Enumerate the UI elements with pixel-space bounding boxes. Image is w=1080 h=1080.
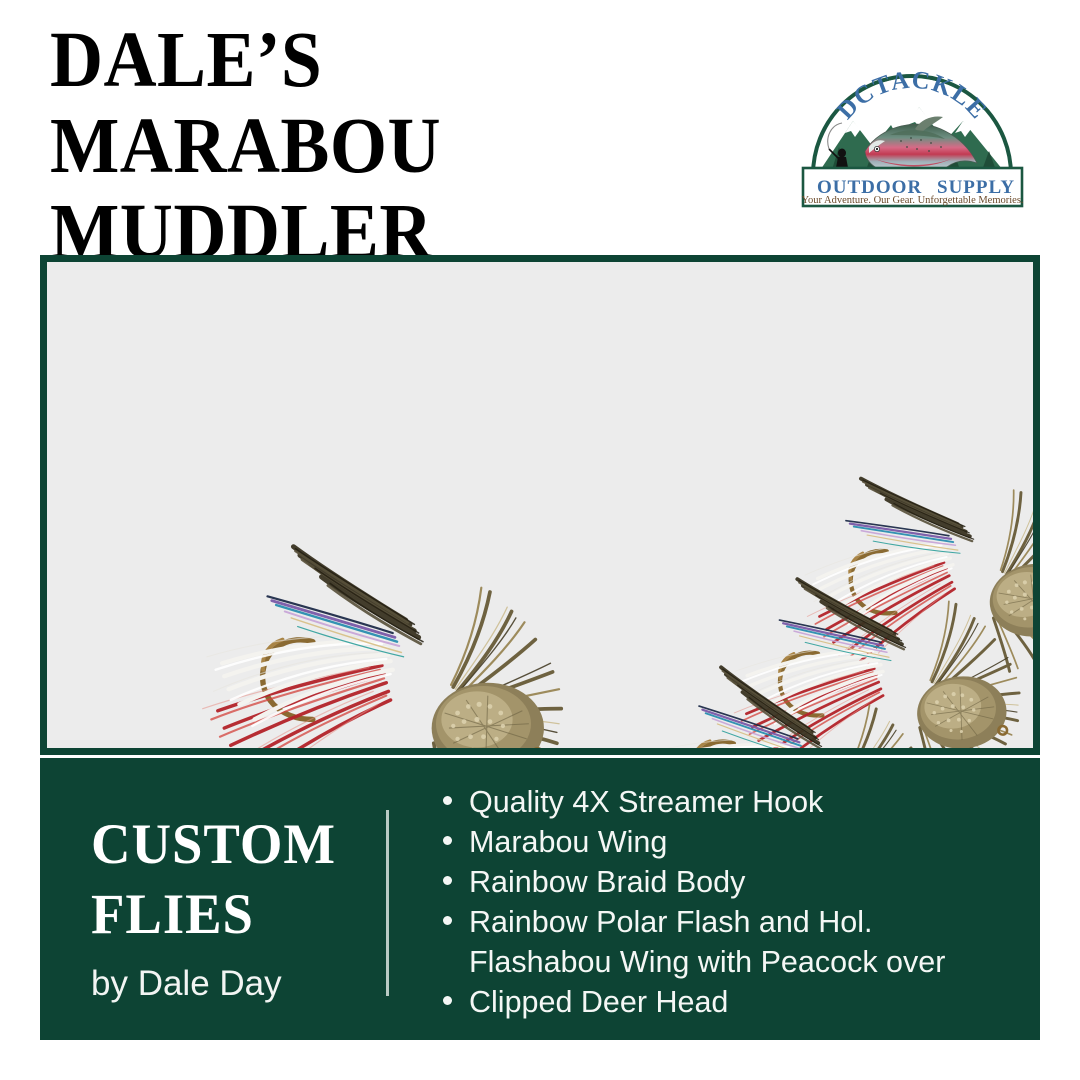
list-item-label: Rainbow Polar Flash and Hol. Flashabou W… <box>469 905 945 979</box>
list-item-label: Rainbow Braid Body <box>469 865 745 899</box>
bullet-dot-icon <box>443 916 452 925</box>
vertical-divider <box>386 810 389 996</box>
list-item: Rainbow Braid Body <box>438 862 1018 902</box>
list-item: Quality 4X Streamer Hook <box>438 782 1018 822</box>
list-item: Clipped Deer Head <box>438 982 1018 1022</box>
bullet-dot-icon <box>443 996 452 1005</box>
list-item-label: Clipped Deer Head <box>469 985 728 1019</box>
product-card: DALE’S MARABOU MUDDLER <box>0 0 1080 1080</box>
feature-list: Quality 4X Streamer Hook Marabou Wing Ra… <box>438 782 1018 1022</box>
list-item-label: Quality 4X Streamer Hook <box>469 785 823 819</box>
logo-tagline: Your Adventure. Our Gear. Unforgettable … <box>801 195 1023 206</box>
list-item: Rainbow Polar Flash and Hol. Flashabou W… <box>438 902 1018 982</box>
brand-logo[interactable]: DCTACKLE <box>795 55 1030 210</box>
product-photo <box>40 255 1040 755</box>
heading-line-1: CUSTOM <box>91 810 379 880</box>
page-title: DALE’S MARABOU MUDDLER <box>50 18 701 276</box>
heading-line-2: FLIES <box>91 880 379 950</box>
panel-heading-block: CUSTOM FLIES by Dale Day <box>91 810 391 1004</box>
bullet-dot-icon <box>443 876 452 885</box>
bullet-dot-icon <box>443 796 452 805</box>
header: DALE’S MARABOU MUDDLER <box>0 0 1080 250</box>
list-item-label: Marabou Wing <box>469 825 667 859</box>
info-panel: CUSTOM FLIES by Dale Day Quality 4X Stre… <box>40 758 1040 1040</box>
bullet-dot-icon <box>443 836 452 845</box>
list-item: Marabou Wing <box>438 822 1018 862</box>
byline: by Dale Day <box>91 964 391 1004</box>
photo-canvas <box>47 262 1033 748</box>
